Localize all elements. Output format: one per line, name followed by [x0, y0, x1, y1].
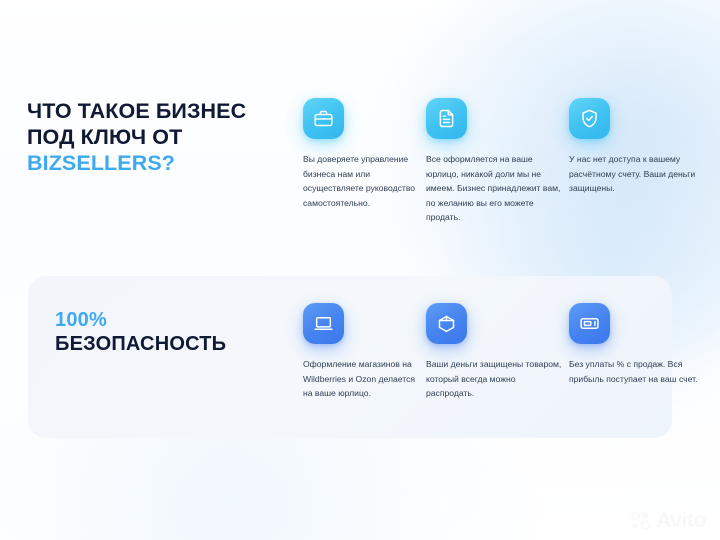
feature-card-2: Все оформляется на ваше юрлицо, никакой …: [426, 98, 566, 225]
panel-feature-card-2-text: Ваши деньги защищены товаром, который вс…: [426, 357, 566, 401]
avito-watermark-label: Avito: [656, 510, 706, 532]
banknote-icon: [569, 303, 610, 344]
panel-feature-card-3-text: Без уплаты % с продаж. Вся прибыль посту…: [569, 357, 709, 386]
headline-line-2: ПОД КЛЮЧ ОТ: [27, 125, 182, 149]
avito-logo-icon: [630, 510, 652, 532]
security-percent: 100%: [55, 308, 275, 332]
headline-brand: BIZSELLERS?: [27, 150, 277, 176]
feature-card-1-text: Вы доверяете управление бизнеса нам или …: [303, 152, 425, 210]
feature-card-3: У нас нет доступа к вашему расчётному сч…: [569, 98, 709, 196]
feature-card-3-text: У нас нет доступа к вашему расчётному сч…: [569, 152, 709, 196]
panel-feature-card-3: Без уплаты % с продаж. Вся прибыль посту…: [569, 303, 709, 386]
security-label: БЕЗОПАСНОСТЬ: [55, 332, 275, 357]
briefcase-icon: [303, 98, 344, 139]
feature-card-2-text: Все оформляется на ваше юрлицо, никакой …: [426, 152, 566, 225]
shield-check-icon: [569, 98, 610, 139]
page-title: ЧТО ТАКОЕ БИЗНЕС ПОД КЛЮЧ ОТ BIZSELLERS?: [27, 98, 277, 176]
slide-canvas: ЧТО ТАКОЕ БИЗНЕС ПОД КЛЮЧ ОТ BIZSELLERS?…: [0, 0, 720, 540]
laptop-icon: [303, 303, 344, 344]
headline-line-1: ЧТО ТАКОЕ БИЗНЕС: [27, 99, 246, 123]
avito-watermark: Avito: [630, 510, 706, 532]
box-icon: [426, 303, 467, 344]
document-icon: [426, 98, 467, 139]
panel-feature-card-1-text: Оформление магазинов на Wildberries и Oz…: [303, 357, 425, 401]
security-panel-title: 100% БЕЗОПАСНОСТЬ: [55, 308, 275, 357]
panel-feature-card-2: Ваши деньги защищены товаром, который вс…: [426, 303, 566, 401]
panel-feature-card-1: Оформление магазинов на Wildberries и Oz…: [303, 303, 425, 401]
feature-card-1: Вы доверяете управление бизнеса нам или …: [303, 98, 425, 210]
